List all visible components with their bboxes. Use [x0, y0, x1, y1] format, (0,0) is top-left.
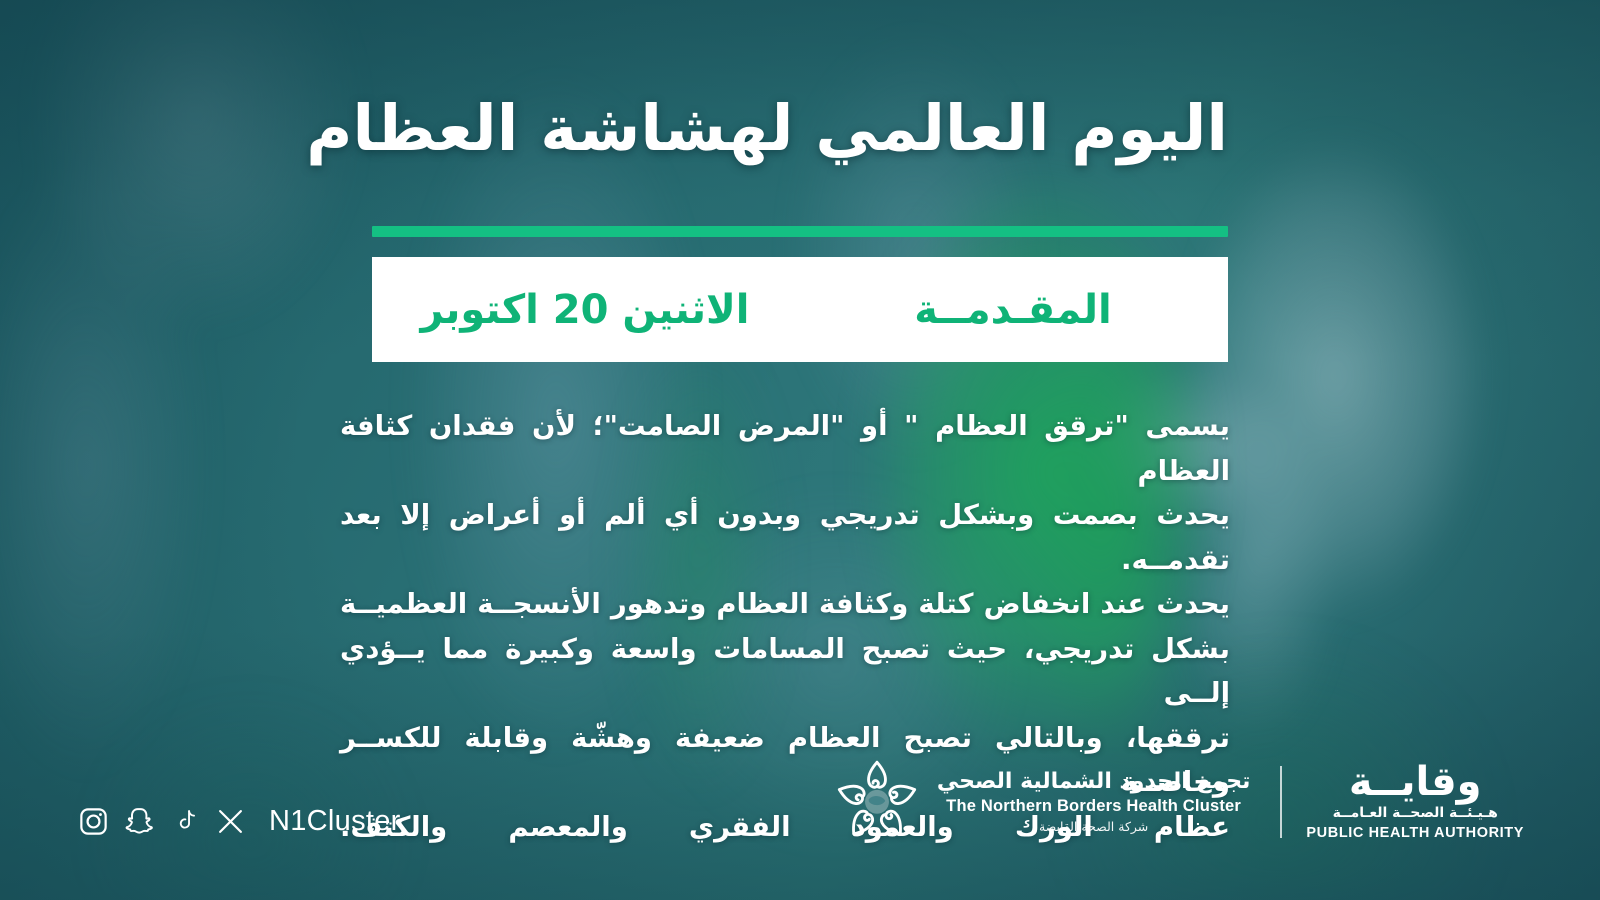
social-handle: N1Cluster [269, 805, 401, 838]
accent-divider-bar [372, 226, 1228, 237]
label-box: المقـدمــة الاثنين 20 اكتوبر [372, 257, 1228, 362]
public-health-authority-logo: وقايــة هـيـئــة الصحــة العـامــة PUBLI… [1292, 761, 1540, 843]
body-line: يحدث بصمت وبشكل تدريجي وبدون أي ألم أو أ… [340, 493, 1230, 582]
body-line: يسمى "ترقق العظام " أو "المرض الصامت"؛ ل… [340, 404, 1230, 493]
x-icon[interactable] [216, 807, 245, 836]
logo-separator [1280, 766, 1282, 838]
poster-content: اليوم العالمي لهشاشة العظام المقـدمــة ا… [0, 0, 1600, 900]
instagram-icon[interactable] [78, 806, 109, 837]
pha-name-ar: هـيـئــة الصحــة العـامــة [1306, 803, 1524, 824]
pha-wordmark-ar: وقايــة [1306, 761, 1524, 803]
body-line: بشكل تدريجي، حيث تصبح المسامات واسعة وكب… [340, 627, 1230, 716]
body-line: يحدث عند انخفاض كتلة وكثافة العظام وتدهو… [340, 582, 1230, 627]
pha-name-en: PUBLIC HEALTH AUTHORITY [1306, 824, 1524, 843]
cluster-name-ar: تجمع الحدود الشمالية الصحي [937, 769, 1251, 795]
cluster-name-en: The Northern Borders Health Cluster [937, 795, 1251, 817]
tiktok-icon[interactable] [172, 806, 200, 837]
date-label: الاثنين 20 اكتوبر [372, 257, 798, 362]
logo-lockup: تجمع الحدود الشمالية الصحي The Northern … [813, 754, 1540, 850]
poster-canvas: اليوم العالمي لهشاشة العظام المقـدمــة ا… [0, 0, 1600, 900]
health-holding-flower-emblem [831, 754, 923, 850]
health-cluster-logo: تجمع الحدود الشمالية الصحي The Northern … [923, 769, 1271, 835]
page-title: اليوم العالمي لهشاشة العظام [372, 92, 1228, 166]
section-label: المقـدمــة [798, 257, 1228, 362]
social-bar: N1Cluster [78, 805, 401, 838]
snapchat-icon[interactable] [125, 806, 156, 837]
cluster-parent-ar: شركة الصحة القابضة [937, 818, 1251, 836]
